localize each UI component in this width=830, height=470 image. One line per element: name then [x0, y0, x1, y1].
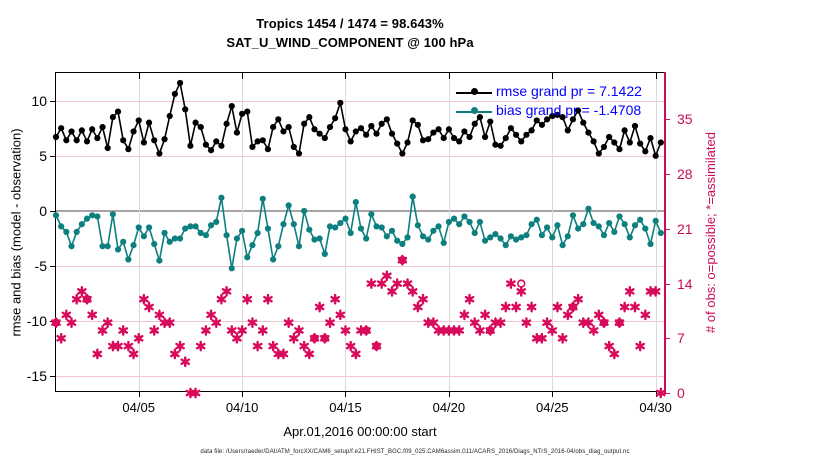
data-point-marker	[151, 241, 157, 247]
data-point-marker	[544, 224, 550, 230]
assimilated-obs-marker	[523, 318, 530, 326]
data-point-marker	[482, 238, 488, 244]
data-point-marker	[296, 243, 302, 249]
data-point-marker	[472, 121, 478, 127]
data-point-marker	[167, 113, 173, 119]
assimilated-obs-marker	[238, 326, 245, 334]
assimilated-obs-marker	[130, 350, 137, 358]
data-point-marker	[317, 235, 323, 241]
legend-marker-rmse-icon	[471, 88, 478, 95]
assimilated-obs-marker	[89, 311, 96, 319]
data-point-marker	[270, 256, 276, 262]
data-point-marker	[415, 122, 421, 128]
data-point-marker	[373, 131, 379, 137]
data-point-marker	[203, 142, 209, 148]
data-point-marker	[223, 121, 229, 127]
data-point-marker	[627, 234, 633, 240]
assimilated-obs-marker	[549, 326, 556, 334]
data-point-marker	[270, 124, 276, 130]
assimilated-obs-marker	[264, 295, 271, 303]
data-point-marker	[120, 239, 126, 245]
possible-obs-marker	[518, 280, 525, 287]
assimilated-obs-marker	[466, 295, 473, 303]
assimilated-obs-marker	[528, 303, 535, 311]
data-point-marker	[244, 254, 250, 260]
data-point-marker	[125, 256, 131, 262]
data-point-marker	[399, 241, 405, 247]
legend-row-rmse: rmse grand pr = 7.1422	[456, 83, 666, 102]
assimilated-obs-marker	[228, 326, 235, 334]
data-point-marker	[213, 138, 219, 144]
assimilated-obs-marker	[595, 311, 602, 319]
data-point-marker	[146, 224, 152, 230]
data-point-marker	[513, 132, 519, 138]
y-axis-right-title: # of obs: o=possible; *=assimilated	[700, 72, 720, 392]
data-point-marker	[627, 139, 633, 145]
data-point-marker	[410, 117, 416, 123]
data-point-marker	[291, 144, 297, 150]
data-point-marker	[596, 223, 602, 229]
assimilated-obs-marker	[518, 287, 525, 295]
data-point-marker	[337, 220, 343, 226]
data-point-marker	[89, 126, 95, 132]
data-point-marker	[229, 103, 235, 109]
assimilated-obs-marker	[611, 350, 618, 358]
data-point-marker	[192, 223, 198, 229]
data-point-marker	[622, 127, 628, 133]
assimilated-obs-marker	[306, 350, 313, 358]
data-point-marker	[523, 132, 529, 138]
data-point-marker	[115, 246, 121, 252]
data-point-marker	[508, 233, 514, 239]
x-tick-label: 04/10	[226, 400, 259, 415]
assimilated-obs-marker	[104, 318, 111, 326]
data-point-marker	[606, 220, 612, 226]
data-point-marker	[611, 139, 617, 145]
data-point-marker	[653, 218, 659, 224]
data-point-marker	[198, 124, 204, 130]
data-point-marker	[260, 196, 266, 202]
data-point-marker	[213, 219, 219, 225]
assimilated-obs-marker	[337, 311, 344, 319]
data-point-marker	[146, 120, 152, 126]
data-point-marker	[518, 138, 524, 144]
y-axis-right-title-text: # of obs: o=possible; *=assimilated	[703, 132, 718, 333]
assimilated-obs-marker	[94, 350, 101, 358]
data-point-marker	[466, 219, 472, 225]
assimilated-obs-marker	[461, 311, 468, 319]
data-point-marker	[317, 131, 323, 137]
assimilated-obs-marker	[414, 303, 421, 311]
data-point-marker	[575, 225, 581, 231]
data-point-marker	[99, 124, 105, 130]
assimilated-obs-marker	[192, 389, 199, 397]
assimilated-obs-marker	[507, 279, 514, 287]
assimilated-obs-marker	[647, 287, 654, 295]
data-point-marker	[642, 225, 648, 231]
data-point-marker	[94, 213, 100, 219]
data-point-marker	[130, 128, 136, 134]
data-point-marker	[172, 91, 178, 97]
data-point-marker	[565, 233, 571, 239]
data-point-marker	[141, 233, 147, 239]
assimilated-obs-marker	[259, 326, 266, 334]
data-point-marker	[255, 138, 261, 144]
assimilated-obs-marker	[207, 311, 214, 319]
data-point-marker	[58, 125, 64, 131]
assimilated-obs-marker	[63, 311, 70, 319]
assimilated-obs-marker	[120, 326, 127, 334]
data-point-marker	[451, 216, 457, 222]
assimilated-obs-marker	[590, 326, 597, 334]
data-point-marker	[430, 228, 436, 234]
data-point-marker	[420, 137, 426, 143]
chart-title: Tropics 1454 / 1474 = 98.643% SAT_U_WIND…	[0, 14, 700, 52]
assimilated-obs-marker	[394, 279, 401, 287]
data-point-marker	[472, 230, 478, 236]
y-tick-label-left: 10	[31, 93, 47, 109]
data-point-marker	[68, 243, 74, 249]
assimilated-obs-marker	[440, 326, 447, 334]
data-point-marker	[658, 230, 664, 236]
data-point-marker	[482, 134, 488, 140]
data-point-marker	[156, 257, 162, 263]
data-point-marker	[616, 146, 622, 152]
data-point-marker	[523, 232, 529, 238]
assimilated-obs-marker	[223, 287, 230, 295]
assimilated-obs-marker	[559, 334, 566, 342]
x-tick-label: 04/15	[329, 400, 362, 415]
data-point-marker	[74, 137, 80, 143]
y-tick-label-left: -5	[35, 258, 47, 274]
data-point-marker	[647, 135, 653, 141]
data-point-marker	[363, 235, 369, 241]
data-point-marker	[585, 206, 591, 212]
assimilated-obs-marker	[492, 318, 499, 326]
data-point-marker	[503, 242, 509, 248]
assimilated-obs-marker	[156, 311, 163, 319]
data-point-marker	[632, 222, 638, 228]
data-point-marker	[342, 126, 348, 132]
data-point-marker	[410, 193, 416, 199]
data-point-marker	[74, 229, 80, 235]
assimilated-obs-marker	[166, 318, 173, 326]
data-point-marker	[306, 114, 312, 120]
data-point-marker	[348, 230, 354, 236]
plot-area: 1050-5-10-15352821147004/0504/1004/1504/…	[55, 72, 665, 392]
assimilated-obs-marker	[631, 303, 638, 311]
data-point-marker	[379, 224, 385, 230]
data-point-marker	[404, 234, 410, 240]
assimilated-obs-marker	[435, 326, 442, 334]
data-point-marker	[187, 143, 193, 149]
assimilated-obs-marker	[456, 326, 463, 334]
y-tick-label-right: 7	[677, 330, 685, 346]
data-point-marker	[394, 238, 400, 244]
assimilated-obs-marker	[151, 326, 158, 334]
data-point-marker	[125, 146, 131, 152]
y-tick-label-left: -10	[27, 313, 47, 329]
data-point-marker	[79, 127, 85, 133]
assimilated-obs-marker	[554, 303, 561, 311]
assimilated-obs-marker	[135, 334, 142, 342]
y-tick-right	[664, 393, 670, 394]
data-point-marker	[110, 114, 116, 120]
assimilated-obs-marker	[564, 311, 571, 319]
data-point-marker	[84, 138, 90, 144]
assimilated-obs-marker	[652, 287, 659, 295]
data-point-marker	[560, 242, 566, 248]
data-point-marker	[632, 123, 638, 129]
data-point-marker	[622, 221, 628, 227]
data-point-marker	[353, 199, 359, 205]
data-point-marker	[642, 148, 648, 154]
data-point-marker	[218, 143, 224, 149]
data-point-marker	[549, 234, 555, 240]
data-point-marker	[601, 144, 607, 150]
data-point-marker	[161, 136, 167, 142]
assimilated-obs-marker	[202, 326, 209, 334]
title-line-1: Tropics 1454 / 1474 = 98.643%	[0, 14, 700, 33]
data-point-marker	[404, 139, 410, 145]
data-point-marker	[229, 265, 235, 271]
data-point-marker	[446, 126, 452, 132]
assimilated-obs-marker	[161, 318, 168, 326]
data-point-marker	[53, 134, 59, 140]
assimilated-obs-marker	[249, 318, 256, 326]
data-point-marker	[394, 141, 400, 147]
y-tick-label-right: 21	[677, 221, 693, 237]
data-point-marker	[306, 227, 312, 233]
data-point-marker	[337, 100, 343, 106]
data-point-marker	[435, 126, 441, 132]
data-point-marker	[348, 138, 354, 144]
data-point-marker	[322, 135, 328, 141]
data-point-marker	[239, 228, 245, 234]
data-point-marker	[265, 225, 271, 231]
assimilated-obs-marker	[621, 303, 628, 311]
data-point-marker	[286, 124, 292, 130]
data-point-marker	[223, 232, 229, 238]
data-point-marker	[89, 212, 95, 218]
data-point-marker	[301, 208, 307, 214]
series-bias	[53, 193, 664, 271]
data-point-marker	[322, 251, 328, 257]
assimilated-obs-marker	[642, 311, 649, 319]
data-point-marker	[63, 229, 69, 235]
assimilated-obs-marker	[378, 279, 385, 287]
assimilated-obs-marker	[585, 318, 592, 326]
data-point-marker	[249, 144, 255, 150]
assimilated-obs-marker	[73, 295, 80, 303]
data-point-marker	[244, 109, 250, 115]
assimilated-obs-marker	[425, 318, 432, 326]
data-point-marker	[218, 195, 224, 201]
assimilated-obs-marker	[187, 389, 194, 397]
right-axis-spine	[664, 72, 666, 393]
assimilated-obs-marker	[533, 334, 540, 342]
data-point-marker	[446, 219, 452, 225]
data-point-marker	[497, 143, 503, 149]
data-point-marker	[565, 127, 571, 133]
assimilated-obs-marker	[497, 318, 504, 326]
data-point-marker	[430, 129, 436, 135]
assimilated-obs-marker	[275, 350, 282, 358]
data-point-marker	[528, 127, 534, 133]
assimilated-obs-marker	[290, 334, 297, 342]
data-point-marker	[94, 135, 100, 141]
data-point-marker	[441, 135, 447, 141]
data-point-marker	[327, 223, 333, 229]
assimilated-obs-marker	[543, 318, 550, 326]
assimilated-obs-marker	[125, 342, 132, 350]
legend: rmse grand pr = 7.1422 bias grand pr = -…	[456, 83, 666, 121]
data-point-marker	[389, 131, 395, 137]
data-point-marker	[379, 121, 385, 127]
assimilated-obs-marker	[332, 295, 339, 303]
data-point-marker	[234, 235, 240, 241]
data-point-marker	[451, 135, 457, 141]
data-point-marker	[384, 233, 390, 239]
assimilated-obs-marker	[213, 318, 220, 326]
data-point-marker	[84, 216, 90, 222]
assimilated-obs-marker	[176, 342, 183, 350]
data-point-marker	[503, 135, 509, 141]
assimilated-obs-marker	[342, 326, 349, 334]
data-point-marker	[585, 129, 591, 135]
x-axis-title: Apr.01,2016 00:00:00 start	[55, 424, 665, 439]
data-point-marker	[255, 230, 261, 236]
data-point-marker	[492, 231, 498, 237]
data-point-marker	[265, 146, 271, 152]
data-point-marker	[539, 122, 545, 128]
data-point-marker	[492, 142, 498, 148]
assimilated-obs-marker	[430, 318, 437, 326]
data-point-marker	[466, 134, 472, 140]
assimilated-obs-marker	[197, 342, 204, 350]
figure-canvas: Tropics 1454 / 1474 = 98.643% SAT_U_WIND…	[0, 0, 830, 470]
data-point-marker	[497, 235, 503, 241]
data-point-marker	[130, 242, 136, 248]
data-point-marker	[141, 139, 147, 145]
data-point-marker	[311, 126, 317, 132]
data-point-marker	[606, 134, 612, 140]
assimilated-obs-marker	[368, 279, 375, 287]
y-tick-label-left: 0	[39, 203, 47, 219]
data-point-marker	[368, 211, 374, 217]
data-point-marker	[601, 232, 607, 238]
data-point-marker	[203, 232, 209, 238]
data-point-marker	[120, 137, 126, 143]
assimilated-obs-marker	[68, 318, 75, 326]
assimilated-obs-marker	[326, 318, 333, 326]
assimilated-obs-marker	[352, 350, 359, 358]
data-point-marker	[115, 109, 121, 115]
assimilated-obs-marker	[471, 318, 478, 326]
assimilated-obs-marker	[606, 342, 613, 350]
data-point-marker	[368, 123, 374, 129]
data-point-marker	[105, 145, 111, 151]
data-point-marker	[528, 221, 534, 227]
data-point-marker	[570, 212, 576, 218]
data-point-marker	[275, 116, 281, 122]
assimilated-obs-marker	[409, 287, 416, 295]
data-point-marker	[53, 212, 59, 218]
assimilated-obs-marker	[280, 350, 287, 358]
data-point-marker	[192, 120, 198, 126]
data-point-marker	[373, 223, 379, 229]
series-line	[56, 197, 661, 269]
data-point-marker	[420, 233, 426, 239]
data-point-marker	[425, 237, 431, 243]
assimilated-obs-marker	[218, 295, 225, 303]
data-point-marker	[332, 115, 338, 121]
data-point-marker	[384, 116, 390, 122]
y-axis-left-title: rmse and bias (model - observation)	[6, 72, 26, 392]
data-point-marker	[591, 220, 597, 226]
data-point-marker	[487, 234, 493, 240]
data-point-marker	[161, 230, 167, 236]
data-point-marker	[301, 121, 307, 127]
data-point-marker	[508, 125, 514, 131]
data-point-marker	[332, 224, 338, 230]
data-point-marker	[311, 237, 317, 243]
data-point-marker	[358, 225, 364, 231]
data-point-marker	[342, 216, 348, 222]
data-point-marker	[208, 222, 214, 228]
data-point-marker	[441, 240, 447, 246]
assimilated-obs-marker	[347, 342, 354, 350]
data-point-marker	[389, 228, 395, 234]
assimilated-obs-marker	[388, 287, 395, 295]
assimilated-obs-marker	[637, 342, 644, 350]
data-point-marker	[456, 138, 462, 144]
data-point-marker	[136, 224, 142, 230]
data-point-marker	[177, 80, 183, 86]
data-point-marker	[286, 202, 292, 208]
data-point-marker	[63, 137, 69, 143]
assimilated-obs-marker	[383, 272, 390, 280]
data-point-marker	[136, 117, 142, 123]
data-point-marker	[105, 243, 111, 249]
assimilated-obs-marker	[58, 334, 65, 342]
data-point-marker	[68, 128, 74, 134]
data-point-marker	[435, 223, 441, 229]
y-tick-label-right: 0	[677, 385, 685, 401]
assimilated-obs-marker	[445, 326, 452, 334]
data-point-marker	[177, 235, 183, 241]
assimilated-obs-marker	[99, 326, 106, 334]
data-point-marker	[554, 222, 560, 228]
assimilated-obs-marker	[140, 295, 147, 303]
assimilated-obs-marker	[316, 303, 323, 311]
data-point-marker	[156, 150, 162, 156]
assimilated-obs-marker	[481, 311, 488, 319]
title-line-2: SAT_U_WIND_COMPONENT @ 100 hPa	[0, 33, 700, 52]
assimilated-obs-marker	[502, 303, 509, 311]
assimilated-obs-marker	[626, 287, 633, 295]
data-point-marker	[167, 239, 173, 245]
assimilated-obs-marker	[244, 295, 251, 303]
y-tick-label-right: 35	[677, 111, 693, 127]
assimilated-obs-marker	[78, 287, 85, 295]
data-point-marker	[353, 128, 359, 134]
data-point-marker	[208, 147, 214, 153]
y-axis-left-title-text: rmse and bias (model - observation)	[9, 128, 24, 336]
assimilated-obs-marker	[404, 279, 411, 287]
data-point-marker	[110, 211, 116, 217]
assimilated-obs-marker	[450, 326, 457, 334]
